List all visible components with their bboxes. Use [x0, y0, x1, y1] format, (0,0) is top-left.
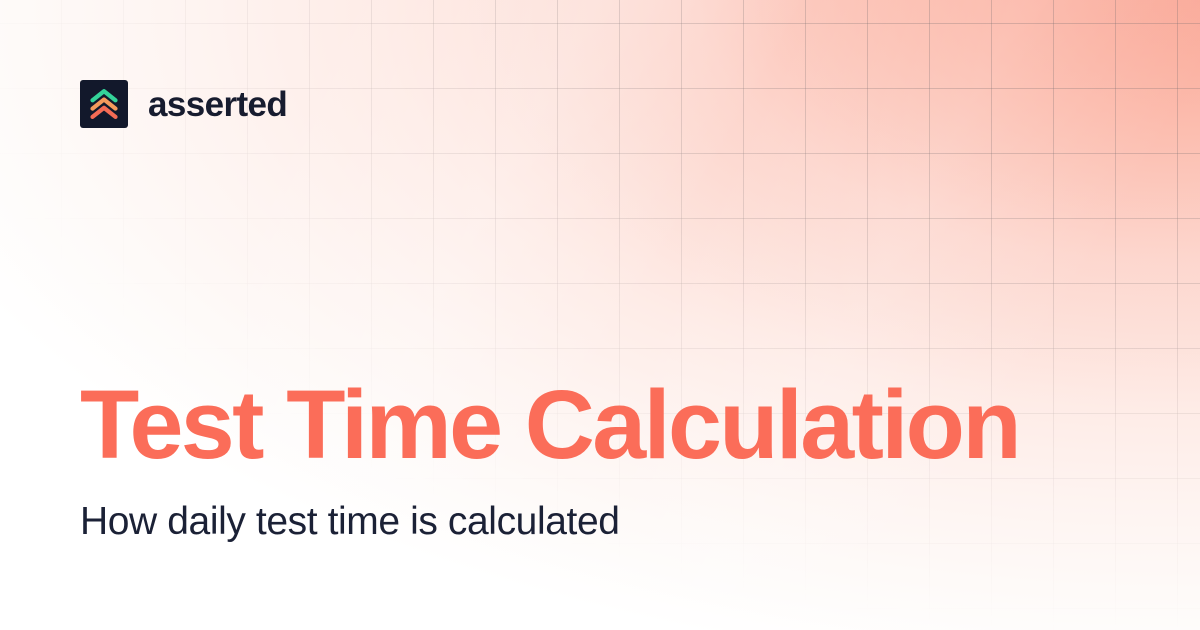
brand-wordmark: asserted	[148, 87, 287, 122]
card-content: asserted Test Time Calculation How daily…	[0, 0, 1200, 630]
triple-chevron-up-icon	[80, 80, 128, 128]
page-subtitle: How daily test time is calculated	[80, 473, 1130, 544]
hero-text-block: Test Time Calculation How daily test tim…	[80, 376, 1130, 544]
page-title: Test Time Calculation	[80, 376, 1130, 473]
og-card: asserted Test Time Calculation How daily…	[0, 0, 1200, 630]
brand-lockup: asserted	[80, 80, 287, 128]
